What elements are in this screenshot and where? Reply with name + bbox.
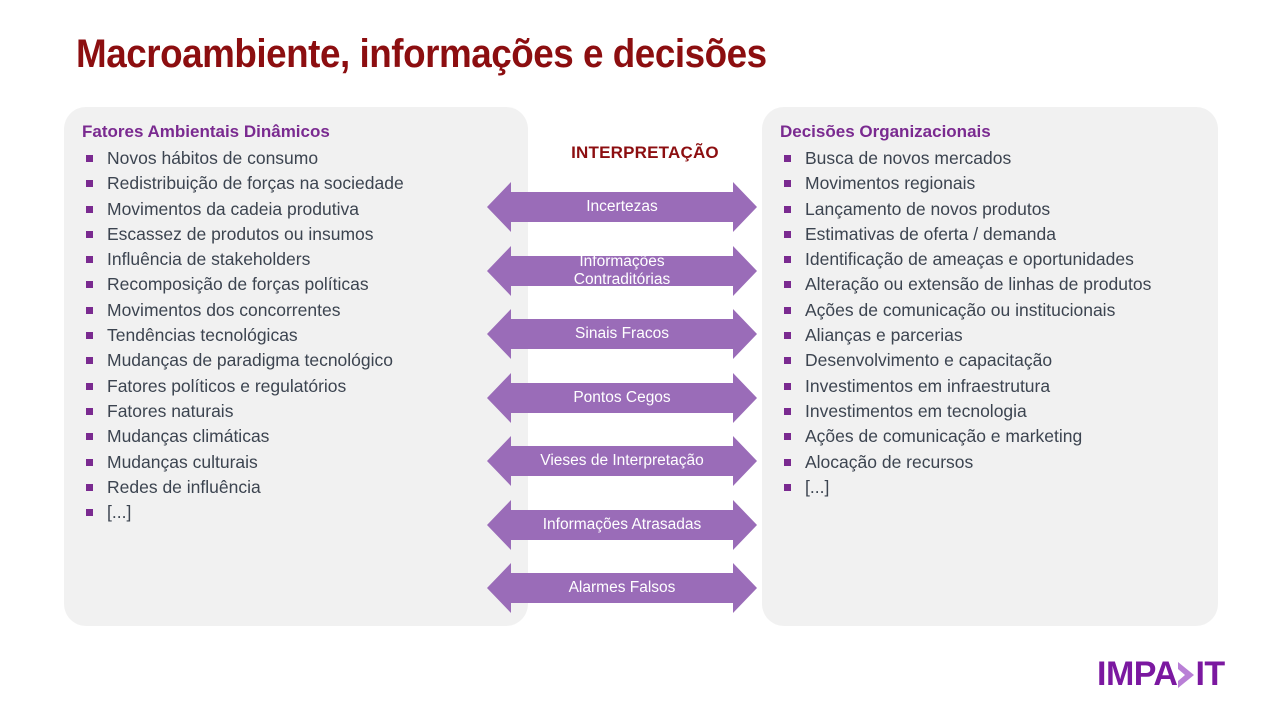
list-item-label: Identificação de ameaças e oportunidades — [805, 249, 1134, 269]
list-item-label: Redistribuição de forças na sociedade — [107, 173, 404, 193]
list-item: Ações de comunicação e marketing — [780, 424, 1204, 449]
bullet-square-icon — [784, 332, 791, 339]
list-item-label: Redes de influência — [107, 477, 261, 497]
list-item-label: Ações de comunicação ou institucionais — [805, 300, 1115, 320]
bullet-square-icon — [784, 408, 791, 415]
list-item-label: Alteração ou extensão de linhas de produ… — [805, 274, 1151, 294]
bullet-square-icon — [784, 155, 791, 162]
double-arrow-icon: Vieses de Interpretação — [487, 434, 757, 488]
list-item: [...] — [780, 475, 1204, 500]
list-item-label: Mudanças climáticas — [107, 426, 269, 446]
bullet-square-icon — [86, 256, 93, 263]
bullet-square-icon — [86, 155, 93, 162]
logo-text-part2: IT — [1195, 655, 1224, 694]
list-item-label: Alocação de recursos — [805, 452, 973, 472]
bullet-square-icon — [86, 484, 93, 491]
bullet-square-icon — [86, 408, 93, 415]
list-item: Busca de novos mercados — [780, 146, 1204, 171]
list-item: Ações de comunicação ou institucionais — [780, 298, 1204, 323]
bullet-square-icon — [86, 383, 93, 390]
list-item-label: Movimentos regionais — [805, 173, 975, 193]
right-panel-heading: Decisões Organizacionais — [780, 121, 1204, 143]
bullet-square-icon — [784, 383, 791, 390]
bullet-square-icon — [784, 357, 791, 364]
list-item: Desenvolvimento e capacitação — [780, 348, 1204, 373]
bullet-square-icon — [784, 459, 791, 466]
panel-decisoes-organizacionais: Decisões Organizacionais Busca de novos … — [762, 107, 1218, 626]
bullet-square-icon — [784, 180, 791, 187]
bullet-square-icon — [86, 231, 93, 238]
list-item-label: Investimentos em infraestrutura — [805, 376, 1050, 396]
list-item-label: Lançamento de novos produtos — [805, 199, 1050, 219]
bullet-square-icon — [86, 307, 93, 314]
list-item: Lançamento de novos produtos — [780, 197, 1204, 222]
list-item-label: Mudanças de paradigma tecnológico — [107, 350, 393, 370]
list-item-label: Tendências tecnológicas — [107, 325, 298, 345]
logo-text-part1: IMPA — [1097, 655, 1177, 694]
right-panel-list: Busca de novos mercadosMovimentos region… — [780, 146, 1204, 500]
list-item-label: Ações de comunicação e marketing — [805, 426, 1082, 446]
list-item-label: Investimentos em tecnologia — [805, 401, 1027, 421]
double-arrow-icon: Alarmes Falsos — [487, 561, 757, 615]
bullet-square-icon — [86, 180, 93, 187]
left-panel-heading: Fatores Ambientais Dinâmicos — [82, 121, 516, 143]
left-panel-list: Novos hábitos de consumoRedistribuição d… — [82, 146, 516, 525]
list-item: [...] — [82, 500, 516, 525]
arrow-label: Pontos Cegos — [511, 371, 733, 425]
bullet-square-icon — [86, 509, 93, 516]
list-item: Novos hábitos de consumo — [82, 146, 516, 171]
bullet-square-icon — [784, 206, 791, 213]
bullet-square-icon — [784, 307, 791, 314]
bullet-square-icon — [86, 332, 93, 339]
list-item: Movimentos regionais — [780, 171, 1204, 196]
arrow-label: Alarmes Falsos — [511, 561, 733, 615]
list-item-label: [...] — [805, 477, 829, 497]
bullet-square-icon — [784, 281, 791, 288]
double-arrow-icon: Incertezas — [487, 180, 757, 234]
list-item: Identificação de ameaças e oportunidades — [780, 247, 1204, 272]
list-item-label: Mudanças culturais — [107, 452, 258, 472]
list-item: Fatores políticos e regulatórios — [82, 374, 516, 399]
list-item-label: Novos hábitos de consumo — [107, 148, 318, 168]
arrow-label: Incertezas — [511, 180, 733, 234]
arrow-label: Vieses de Interpretação — [511, 434, 733, 488]
list-item-label: Alianças e parcerias — [805, 325, 963, 345]
list-item: Recomposição de forças políticas — [82, 272, 516, 297]
bullet-square-icon — [784, 484, 791, 491]
list-item: Movimentos da cadeia produtiva — [82, 197, 516, 222]
list-item-label: Recomposição de forças políticas — [107, 274, 369, 294]
arrow-label: Informações Atrasadas — [511, 498, 733, 552]
list-item: Redes de influência — [82, 475, 516, 500]
list-item-label: Estimativas de oferta / demanda — [805, 224, 1056, 244]
list-item-label: Movimentos da cadeia produtiva — [107, 199, 359, 219]
list-item: Movimentos dos concorrentes — [82, 298, 516, 323]
bullet-square-icon — [784, 256, 791, 263]
list-item: Investimentos em infraestrutura — [780, 374, 1204, 399]
list-item-label: Fatores naturais — [107, 401, 233, 421]
list-item: Alianças e parcerias — [780, 323, 1204, 348]
list-item-label: Influência de stakeholders — [107, 249, 310, 269]
list-item-label: Fatores políticos e regulatórios — [107, 376, 346, 396]
list-item: Investimentos em tecnologia — [780, 399, 1204, 424]
list-item: Fatores naturais — [82, 399, 516, 424]
page-title: Macroambiente, informações e decisões — [76, 32, 767, 77]
list-item: Redistribuição de forças na sociedade — [82, 171, 516, 196]
list-item: Escassez de produtos ou insumos — [82, 222, 516, 247]
bullet-square-icon — [86, 206, 93, 213]
impakt-logo: IMPA IT — [1097, 655, 1225, 694]
list-item: Alteração ou extensão de linhas de produ… — [780, 272, 1204, 297]
copyright-wrap: © IMPAKT CONSULTORIA — [1222, 125, 1242, 325]
list-item-label: Escassez de produtos ou insumos — [107, 224, 374, 244]
chevron-right-icon — [1176, 662, 1196, 688]
panel-fatores-ambientais: Fatores Ambientais Dinâmicos Novos hábit… — [64, 107, 528, 626]
bullet-square-icon — [784, 231, 791, 238]
arrow-label: Sinais Fracos — [511, 307, 733, 361]
double-arrow-icon: Informações Atrasadas — [487, 498, 757, 552]
list-item: Tendências tecnológicas — [82, 323, 516, 348]
list-item: Estimativas de oferta / demanda — [780, 222, 1204, 247]
list-item: Mudanças de paradigma tecnológico — [82, 348, 516, 373]
bullet-square-icon — [86, 433, 93, 440]
double-arrow-icon: Pontos Cegos — [487, 371, 757, 425]
list-item: Mudanças climáticas — [82, 424, 516, 449]
arrow-label: Informações Contraditórias — [511, 244, 733, 298]
interpretacao-label: INTERPRETAÇÃO — [528, 143, 762, 163]
bullet-square-icon — [784, 433, 791, 440]
list-item: Alocação de recursos — [780, 450, 1204, 475]
arrow-stack: IncertezasInformações ContraditóriasSina… — [487, 180, 757, 622]
bullet-square-icon — [86, 459, 93, 466]
bullet-square-icon — [86, 357, 93, 364]
list-item: Influência de stakeholders — [82, 247, 516, 272]
list-item-label: Desenvolvimento e capacitação — [805, 350, 1052, 370]
double-arrow-icon: Sinais Fracos — [487, 307, 757, 361]
double-arrow-icon: Informações Contraditórias — [487, 244, 757, 298]
list-item-label: Movimentos dos concorrentes — [107, 300, 340, 320]
list-item-label: [...] — [107, 502, 131, 522]
bullet-square-icon — [86, 281, 93, 288]
list-item-label: Busca de novos mercados — [805, 148, 1011, 168]
list-item: Mudanças culturais — [82, 450, 516, 475]
